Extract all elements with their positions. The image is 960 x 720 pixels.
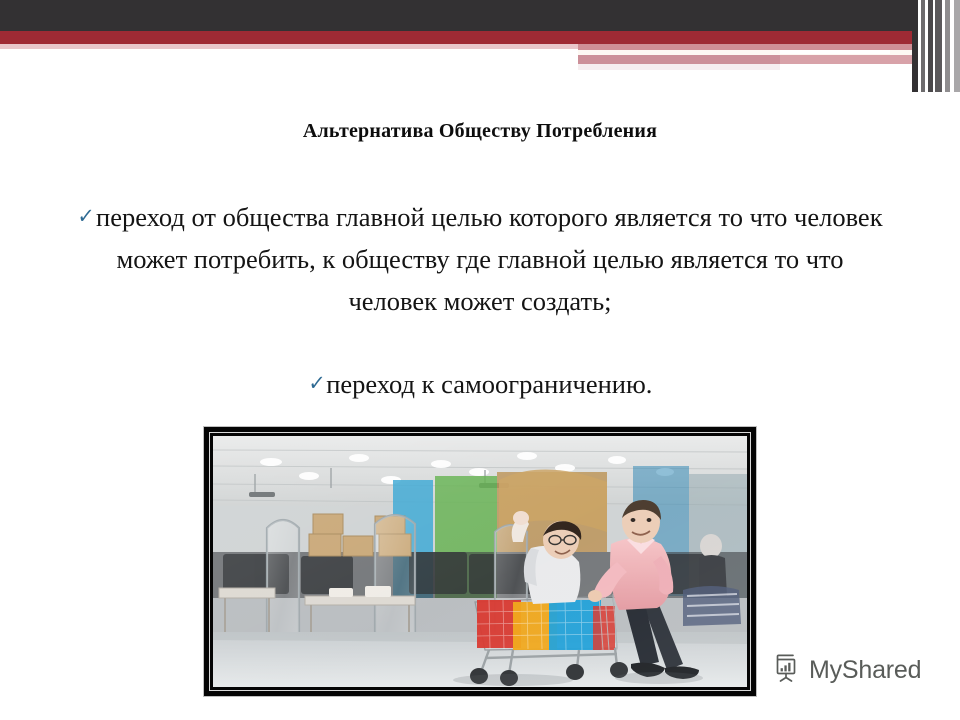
- header-band-white-strip: [780, 50, 890, 54]
- header-vertical-stripes: [912, 0, 960, 92]
- bullet-item-1-text: переход от общества главной целью которо…: [96, 202, 883, 316]
- checkmark-icon: ✓: [77, 206, 95, 227]
- header-stripe-10: [954, 0, 960, 92]
- header-stripe-6: [935, 0, 942, 92]
- presentation-slide: Альтернатива Обществу Потребления ✓перех…: [0, 0, 960, 720]
- header-band-faint: [578, 64, 780, 70]
- page-title: Альтернатива Обществу Потребления: [40, 108, 920, 154]
- header-band-dark: [0, 0, 960, 31]
- header-band-pink-left: [0, 44, 578, 49]
- bullet-item-1: ✓переход от общества главной целью котор…: [72, 196, 888, 322]
- slide-header-decoration: [0, 0, 960, 92]
- bullet-item-2-text: переход к самоограничению.: [326, 369, 652, 399]
- slide-photo: [213, 436, 747, 687]
- header-band-rose-lower: [578, 55, 780, 64]
- photo-frame: [204, 427, 756, 696]
- bullet-item-2: ✓переход к самоограничению.: [72, 363, 888, 405]
- flipchart-icon: [772, 653, 802, 688]
- checkmark-icon: ✓: [307, 373, 325, 394]
- watermark-label: MyShared: [809, 656, 921, 685]
- myshared-watermark: MyShared: [772, 653, 921, 688]
- header-band-crimson: [0, 31, 960, 44]
- slide-body: ✓переход от общества главной целью котор…: [72, 196, 888, 405]
